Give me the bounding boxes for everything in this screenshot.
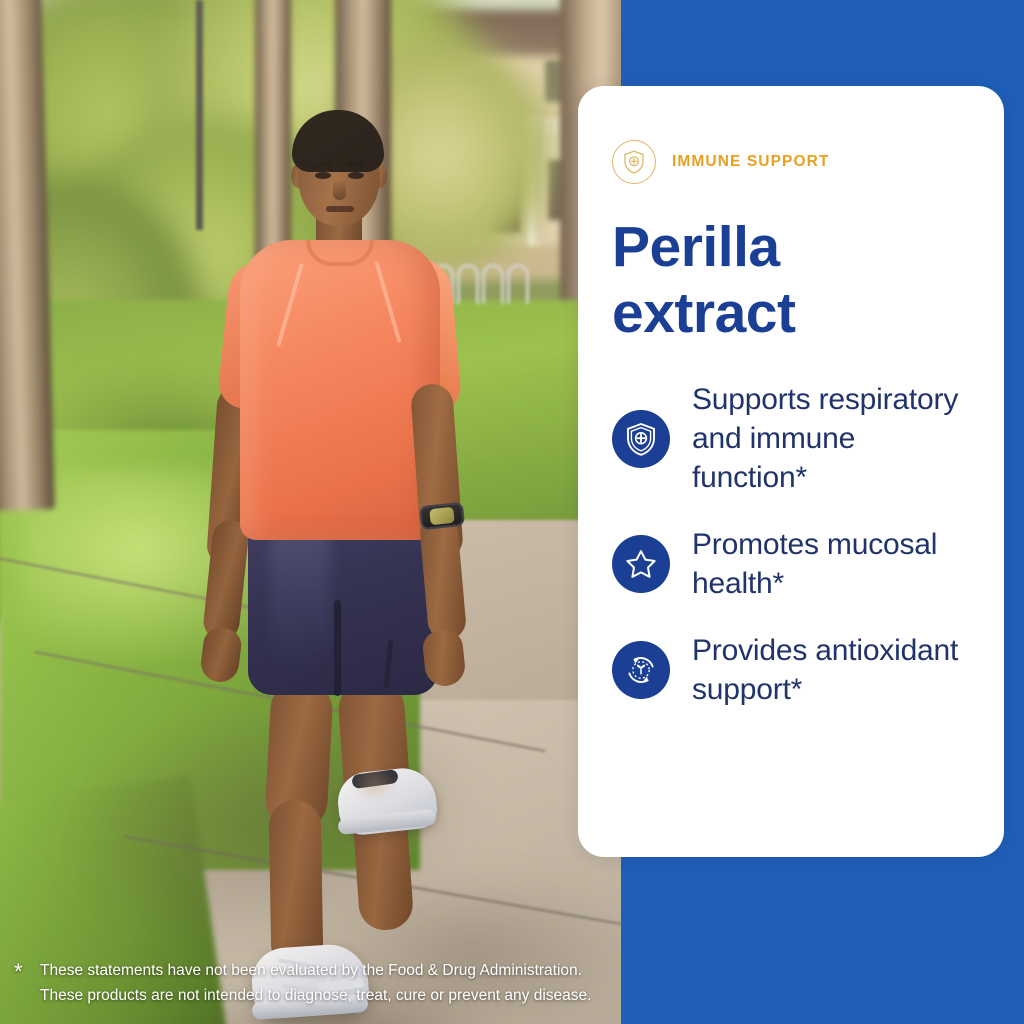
shield-check-icon [612,140,656,184]
benefit-text: Supports respiratory and immune function… [692,380,974,497]
title-line-1: Perilla [612,214,974,280]
promo-image-stage: IMMUNE SUPPORT Perilla extract Supports … [0,0,1024,1024]
disclaimer-line-2: These products are not intended to diagn… [40,983,614,1008]
benefit-item: Promotes mucosal health* [612,525,974,603]
star-icon [612,535,670,593]
disclaimer-asterisk: * [14,954,23,990]
lifestyle-photo [0,0,621,1024]
shield-plus-icon [612,410,670,468]
page-title: Perilla extract [612,214,974,346]
benefit-text: Provides antioxidant support* [692,631,974,709]
badge-label: IMMUNE SUPPORT [672,153,830,171]
disclaimer-line-1: These statements have not been evaluated… [40,958,614,983]
benefit-text: Promotes mucosal health* [692,525,974,603]
benefit-item: Supports respiratory and immune function… [612,380,974,497]
photo-warm-overlay [0,0,621,1024]
benefits-list: Supports respiratory and immune function… [612,380,974,709]
title-line-2: extract [612,280,974,346]
fda-disclaimer: * These statements have not been evaluat… [14,958,614,1008]
benefit-item: Provides antioxidant support* [612,631,974,709]
antioxidant-recycle-leaf-icon [612,641,670,699]
immune-support-badge: IMMUNE SUPPORT [612,140,974,184]
product-info-card: IMMUNE SUPPORT Perilla extract Supports … [578,86,1004,857]
